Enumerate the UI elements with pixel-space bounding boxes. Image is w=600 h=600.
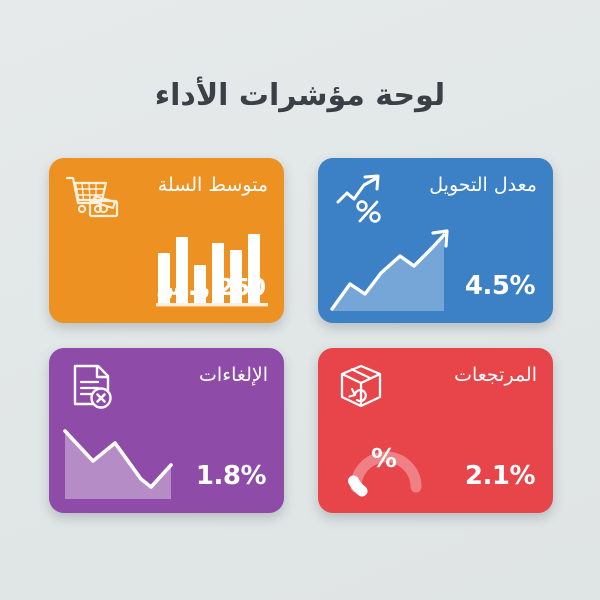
kpi-card-cancellations[interactable]: الإلغاءات 1.8% — [49, 348, 284, 513]
document-cancel-icon — [65, 362, 121, 414]
kpi-cards-grid: معدل التحويل 4.5% — [48, 158, 553, 513]
kpi-card-title: معدل التحويل — [429, 174, 537, 196]
line-area-down-chart — [59, 417, 191, 505]
kpi-card-title: المرتجعات — [454, 364, 537, 386]
kpi-card-title: الإلغاءات — [199, 364, 268, 386]
kpi-card-value: 1.8% — [196, 461, 266, 491]
kpi-card-value: 250 ر.س — [156, 275, 266, 301]
dashboard-page: لوحة مؤشرات الأداء معدل التحويل — [0, 0, 600, 600]
kpi-card-title: متوسط السلة — [158, 174, 268, 196]
shopping-cart-money-icon — [65, 172, 121, 224]
kpi-card-average-basket[interactable]: متوسط السلة — [49, 158, 284, 323]
kpi-card-conversion-rate[interactable]: معدل التحويل 4.5% — [318, 158, 553, 323]
gauge-center-label: % — [371, 444, 397, 474]
return-box-icon — [334, 362, 390, 414]
page-title: لوحة مؤشرات الأداء — [0, 78, 600, 113]
kpi-card-returns[interactable]: المرتجعات % 2.1% — [318, 348, 553, 513]
gauge-donut-percent: % — [338, 415, 434, 499]
trending-up-percent-icon — [334, 172, 390, 224]
kpi-card-value: 4.5% — [465, 271, 535, 301]
kpi-card-value: 2.1% — [465, 461, 535, 491]
line-area-up-chart — [328, 227, 458, 315]
